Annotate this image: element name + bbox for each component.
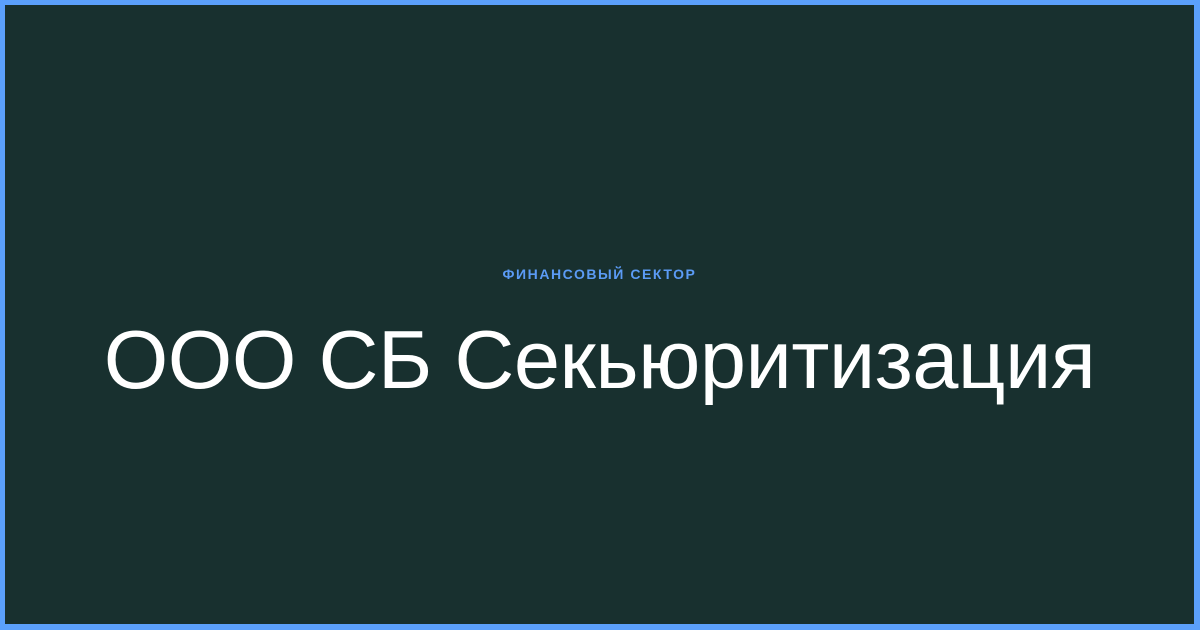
category-eyebrow: ФИНАНСОВЫЙ СЕКТОР (41, 267, 1158, 281)
card-content: ФИНАНСОВЫЙ СЕКТОР ООО СБ Секьюритизация (5, 267, 1194, 401)
share-card: ФИНАНСОВЫЙ СЕКТОР ООО СБ Секьюритизация (0, 0, 1200, 630)
page-title: ООО СБ Секьюритизация (41, 318, 1158, 401)
